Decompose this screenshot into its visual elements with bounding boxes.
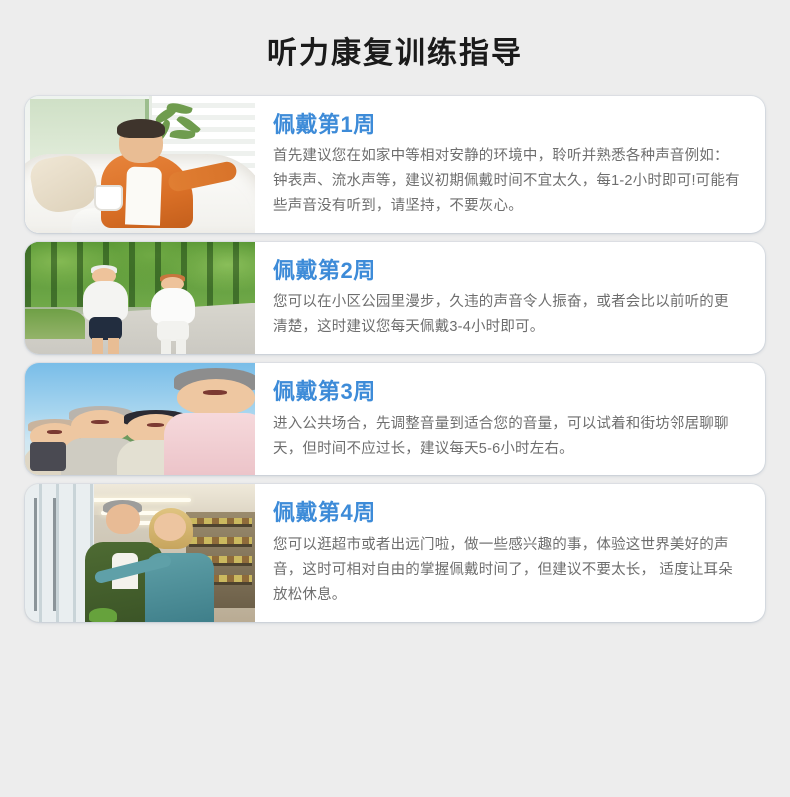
week-card-4-text: 您可以逛超市或者出远门啦，做一些感兴趣的事，体验这世界美好的声音，这时可相对自由… [273,533,743,608]
week-card-2-text: 您可以在小区公园里漫步，久违的声音令人振奋，或者会比以前听的更清楚，这时建议您每… [273,290,743,340]
week-card-1-text: 首先建议您在如家中等相对安静的环境中，聆听并熟悉各种声音例如：钟表声、流水声等，… [273,144,743,219]
week-card-2-heading: 佩戴第2周 [273,258,743,283]
week-card-3[interactable]: 佩戴第3周 进入公共场合，先调整音量到适合您的音量，可以试着和街坊邻居聊聊天，但… [25,363,765,475]
senior-man-right-shape [177,368,255,476]
ceiling-light-icon [89,498,190,502]
shoulder-bag-icon [30,442,67,471]
runner-woman-shape [145,274,203,353]
door-handle-icon [34,498,37,610]
week-card-1-body: 佩戴第1周 首先建议您在如家中等相对安静的环境中，聆听并熟悉各种声音例如：钟表声… [255,96,765,233]
hair-shape [117,119,165,138]
photo-senior-couple-jogging-park [25,242,255,354]
coffee-cup-icon [94,185,123,211]
week-card-2-media [25,242,255,354]
week-card-1-heading: 佩戴第1周 [273,112,743,137]
woman-head-shape [154,513,186,540]
week-card-4-body: 佩戴第4周 您可以逛超市或者出远门啦，做一些感兴趣的事，体验这世界美好的声音，这… [255,484,765,621]
week-card-2-body: 佩戴第2周 您可以在小区公园里漫步，久违的声音令人振奋，或者会比以前听的更清楚，… [255,242,765,354]
week-card-3-text: 进入公共场合，先调整音量到适合您的音量，可以试着和街坊邻居聊聊天，但时间不应过长… [273,412,743,462]
week-card-4-heading: 佩戴第4周 [273,500,743,525]
week-card-3-heading: 佩戴第3周 [273,379,743,404]
photo-seniors-group-laughing-outdoors [25,363,255,475]
door-handle-icon [53,498,56,610]
hearing-rehab-guide-page: 听力康复训练指导 [0,0,790,797]
week-card-2[interactable]: 佩戴第2周 您可以在小区公园里漫步，久违的声音令人振奋，或者会比以前听的更清楚，… [25,242,765,354]
week-card-1-media [25,96,255,233]
white-undershirt-shape [125,167,161,226]
photo-couple-shopping-supermarket [25,484,255,621]
week-card-4[interactable]: 佩戴第4周 您可以逛超市或者出远门啦，做一些感兴趣的事，体验这世界美好的声音，这… [25,484,765,621]
week-card-3-body: 佩戴第3周 进入公共场合，先调整音量到适合您的音量，可以试着和街坊邻居聊聊天，但… [255,363,765,475]
man-head-shape [106,504,141,534]
trees-shape [25,242,255,307]
groceries-icon [89,608,117,622]
runner-man-shape [76,265,136,352]
week-card-1[interactable]: 佩戴第1周 首先建议您在如家中等相对安静的环境中，聆听并熟悉各种声音例如：钟表声… [25,96,765,233]
photo-senior-man-sofa-coffee [25,96,255,233]
week-card-list: 佩戴第1周 首先建议您在如家中等相对安静的环境中，聆听并熟悉各种声音例如：钟表声… [0,96,790,622]
week-card-3-media [25,363,255,475]
week-card-4-media [25,484,255,621]
page-title: 听力康复训练指导 [0,0,790,72]
